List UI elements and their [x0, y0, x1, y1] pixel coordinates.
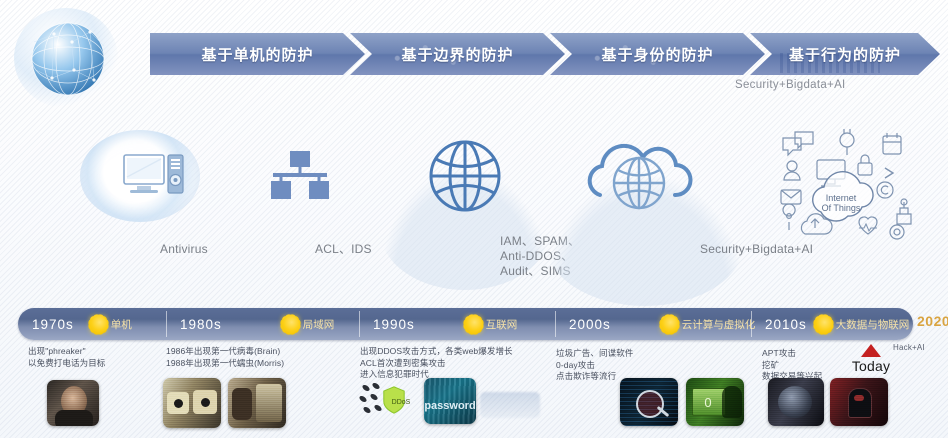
timeline-segment-1970s[interactable]: 1970s 单机: [18, 308, 166, 340]
timeline-year-1970s: 1970s: [32, 317, 74, 332]
timeline-year-1990s: 1990s: [373, 317, 415, 332]
thumbnail-hacker-search: [620, 378, 678, 426]
ddos-bombs-svg: DDoS: [358, 382, 420, 424]
timeline-segment-2000s[interactable]: 2000s 云计算与虚拟化: [555, 308, 751, 340]
timeline-bar: 1970s 单机 1980s 局域网 1990s 互联网 2000s 云计算与虚…: [18, 308, 913, 340]
iot-cluster-svg: Internet Of Things: [775, 128, 915, 240]
thumb-texture: [686, 378, 744, 426]
cloud-globe-icon: [545, 130, 735, 222]
sun-icon: [465, 316, 482, 333]
thumb-texture: [47, 380, 99, 426]
stage-chevron-1[interactable]: 基于单机的防护: [150, 33, 365, 75]
timeline-tag-1980s: 局域网: [303, 317, 335, 332]
network-topology-svg: [267, 149, 333, 203]
iot-label-line1: Internet: [826, 193, 857, 203]
internet-of-things-icon: Internet Of Things: [765, 128, 925, 240]
timeline-segment-2010s[interactable]: 2010s 大数据与物联网: [751, 308, 913, 340]
icon-cell-cloud: Security+Bigdata+AI: [545, 130, 735, 260]
stage-chevron-3[interactable]: 基于身份的防护: [550, 33, 765, 75]
thumbnail-data-trade: [830, 378, 888, 426]
description-1970s: 出现"phreaker" 以免费打电话为目标: [28, 346, 105, 369]
thumbnail-money-fraud: 0: [686, 378, 744, 426]
thumb-texture: [228, 378, 286, 428]
thumb-texture: [163, 378, 221, 428]
thumbnail-password: password: [424, 378, 476, 424]
iot-label-line2: Of Things: [822, 203, 861, 213]
timeline-segment-1980s[interactable]: 1980s 局域网: [166, 308, 359, 340]
timeline-end-year: 2020: [917, 313, 948, 329]
svg-text:password: password: [424, 400, 475, 412]
thumbnail-morris-worm: [228, 378, 286, 428]
timeline-tag-1970s: 单机: [111, 317, 132, 332]
faded-card-art: [480, 392, 540, 418]
wireframe-globe-icon: [8, 4, 128, 114]
sun-icon: [661, 316, 678, 333]
timeline-year-1980s: 1980s: [180, 317, 222, 332]
stage-label-4: 基于行为的防护: [789, 44, 901, 65]
ddos-bombs-art: DDoS: [358, 382, 420, 424]
network-topology-icon: [205, 130, 395, 222]
cloud-globe-svg: [578, 137, 702, 215]
timeline-year-2010s: 2010s: [765, 317, 807, 332]
stage-label-3: 基于身份的防护: [601, 44, 713, 65]
globe-icon: [370, 130, 560, 222]
thumbnail-apt-attack: [768, 378, 824, 426]
stage-chevron-4[interactable]: 基于行为的防护: [750, 33, 940, 75]
evolution-stage-banner: 基于单机的防护 基于边界的防护 基于身份的防护 基于行为的防护: [150, 33, 940, 75]
stage-chevron-2[interactable]: 基于边界的防护: [350, 33, 565, 75]
sun-icon: [815, 316, 832, 333]
hack-ai-note: Hack+AI: [893, 343, 925, 352]
thumb-texture: [768, 378, 824, 426]
desktop-computer-svg: [120, 149, 190, 203]
slide-canvas: 基于单机的防护 基于边界的防护 基于身份的防护 基于行为的防护 Security…: [0, 0, 948, 438]
icon-cell-network: ACL、IDS: [205, 130, 395, 260]
globe-svg: [425, 136, 505, 216]
thumbnail-phreaker: [47, 380, 99, 426]
password-text-svg: password: [424, 378, 476, 424]
stage-label-2: 基于边界的防护: [401, 44, 513, 65]
stage-label-1: 基于单机的防护: [201, 44, 313, 65]
description-1980s: 1986年出现第一代病毒(Brain) 1988年出现第一代蠕虫(Morris): [166, 346, 284, 369]
description-1990s: 出现DDOS攻击方式，各类web爆发增长 ACL首次遭到密集攻击 进入信息犯罪时…: [360, 346, 513, 381]
timeline-segment-1990s[interactable]: 1990s 互联网: [359, 308, 555, 340]
timeline-tag-2000s: 云计算与虚拟化: [682, 317, 756, 332]
today-arrow-icon: [861, 344, 881, 357]
svg-text:DDoS: DDoS: [392, 399, 411, 406]
thumb-texture: [830, 378, 888, 426]
thumb-texture: [620, 378, 678, 426]
icon-cell-iot: Internet Of Things: [765, 130, 925, 260]
banner-subcaption: Security+Bigdata+AI: [735, 79, 846, 91]
globe-wireframe-svg: [20, 12, 116, 106]
timeline-tag-1990s: 互联网: [486, 317, 518, 332]
timeline-tag-2010s: 大数据与物联网: [836, 317, 910, 332]
today-label: Today: [836, 358, 906, 374]
sun-icon: [90, 316, 107, 333]
icon-cell-internet: IAM、SPAM、 Anti-DDOS、 Audit、SIMS: [370, 130, 560, 260]
sun-icon: [282, 316, 299, 333]
timeline-year-2000s: 2000s: [569, 317, 611, 332]
thumbnail-early-virus: [163, 378, 221, 428]
